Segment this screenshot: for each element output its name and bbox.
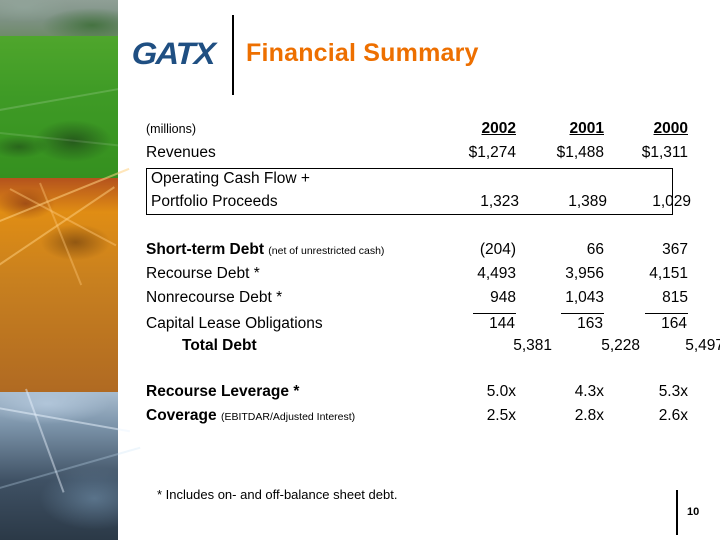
row-value-2002: 144: [438, 313, 516, 333]
photo-band-orange: [0, 178, 118, 392]
row-label: Total Debt: [146, 337, 474, 355]
row-value-2000: 5.3x: [604, 383, 688, 401]
boxed-operating-cash-flow-block: Operating Cash Flow + Portfolio Proceeds…: [146, 168, 673, 215]
table-row-revenues: Revenues $1,274 $1,488 $1,311: [146, 144, 674, 168]
table-row-recourse-debt: Recourse Debt * 4,493 3,956 4,151: [146, 265, 674, 289]
row-value-2001: $1,488: [516, 144, 604, 162]
row-value-2002: 2.5x: [438, 407, 516, 425]
row-value-2000: 2.6x: [604, 407, 688, 425]
row-label: Coverage (EBITDAR/Adjusted Interest): [146, 407, 438, 425]
table-row-coverage: Coverage (EBITDAR/Adjusted Interest) 2.5…: [146, 407, 674, 431]
row-value-2002: (204): [438, 241, 516, 259]
page-number-rule: [676, 490, 678, 535]
row-value-2000: 4,151: [604, 265, 688, 283]
section-spacer: [146, 361, 674, 383]
decorative-photo-strip: [0, 0, 118, 540]
page-number: 10: [687, 506, 699, 518]
row-value-2000: 164: [604, 313, 688, 333]
row-value-2001: 66: [516, 241, 604, 259]
row-value-2001: 5,228: [552, 337, 640, 355]
photo-streak: [0, 447, 140, 490]
row-value-2000: 815: [604, 289, 688, 307]
row-value-2001: 163: [516, 313, 604, 333]
row-value-2000: $1,311: [604, 144, 688, 162]
row-label: Recourse Debt *: [146, 265, 438, 283]
photo-band-grey-green: [0, 0, 118, 36]
row-value-2000: 5,497: [640, 337, 720, 355]
row-label-text: Coverage: [146, 407, 217, 424]
column-header-2002: 2002: [438, 120, 516, 138]
boxed-value-2002: 1,323: [441, 193, 519, 211]
boxed-value-2000: 1,029: [607, 193, 691, 211]
slide-canvas: GATX Financial Summary (millions) 2002 2…: [0, 0, 720, 540]
header-divider: [232, 15, 234, 95]
row-value-2002: $1,274: [438, 144, 516, 162]
units-label: (millions): [146, 122, 438, 136]
boxed-value-2001: 1,389: [519, 193, 607, 211]
photo-streak: [0, 87, 122, 112]
photo-band-green: [0, 36, 118, 178]
column-header-2000: 2000: [604, 120, 688, 138]
page-title: Financial Summary: [246, 39, 479, 68]
row-label-text: Short-term Debt: [146, 241, 264, 258]
boxed-label-line1: Operating Cash Flow +: [147, 170, 441, 188]
row-value-2001: 2.8x: [516, 407, 604, 425]
photo-streak: [0, 406, 130, 432]
table-row-recourse-leverage: Recourse Leverage * 5.0x 4.3x 5.3x: [146, 383, 674, 407]
financial-summary-table: (millions) 2002 2001 2000 Revenues $1,27…: [146, 120, 674, 431]
row-value-2000: 367: [604, 241, 688, 259]
row-value-2001: 1,043: [516, 289, 604, 307]
row-value-2002: 948: [438, 289, 516, 307]
boxed-row-line1: Operating Cash Flow +: [147, 169, 672, 193]
footnote: * Includes on- and off-balance sheet deb…: [157, 487, 397, 502]
table-header-row: (millions) 2002 2001 2000: [146, 120, 674, 144]
row-label: Recourse Leverage *: [146, 383, 438, 401]
row-value-2002: 4,493: [438, 265, 516, 283]
gatx-logo: GATX: [131, 36, 215, 72]
row-value-text: 163: [561, 313, 604, 333]
row-label-note: (net of unrestricted cash): [268, 245, 384, 257]
table-row-total-debt: Total Debt 5,381 5,228 5,497: [146, 337, 674, 361]
photo-streak: [0, 132, 119, 147]
row-label: Short-term Debt (net of unrestricted cas…: [146, 241, 438, 259]
row-value-2001: 3,956: [516, 265, 604, 283]
row-value-2002: 5,381: [474, 337, 552, 355]
row-label: Revenues: [146, 144, 438, 162]
table-row-nonrecourse-debt: Nonrecourse Debt * 948 1,043 815: [146, 289, 674, 313]
row-label: Nonrecourse Debt *: [146, 289, 438, 307]
column-header-2001: 2001: [516, 120, 604, 138]
boxed-row-line2: Portfolio Proceeds 1,323 1,389 1,029: [147, 193, 672, 216]
row-value-2001: 4.3x: [516, 383, 604, 401]
table-row-short-term-debt: Short-term Debt (net of unrestricted cas…: [146, 241, 674, 265]
row-value-text: 144: [473, 313, 516, 333]
row-label-note: (EBITDAR/Adjusted Interest): [221, 411, 355, 423]
photo-band-blue: [0, 392, 118, 540]
row-value-2002: 5.0x: [438, 383, 516, 401]
table-row-capital-lease-obligations: Capital Lease Obligations 144 163 164: [146, 313, 674, 337]
boxed-label-line2: Portfolio Proceeds: [147, 193, 441, 211]
section-spacer: [146, 219, 674, 241]
row-value-text: 164: [645, 313, 688, 333]
row-label: Capital Lease Obligations: [146, 315, 438, 333]
